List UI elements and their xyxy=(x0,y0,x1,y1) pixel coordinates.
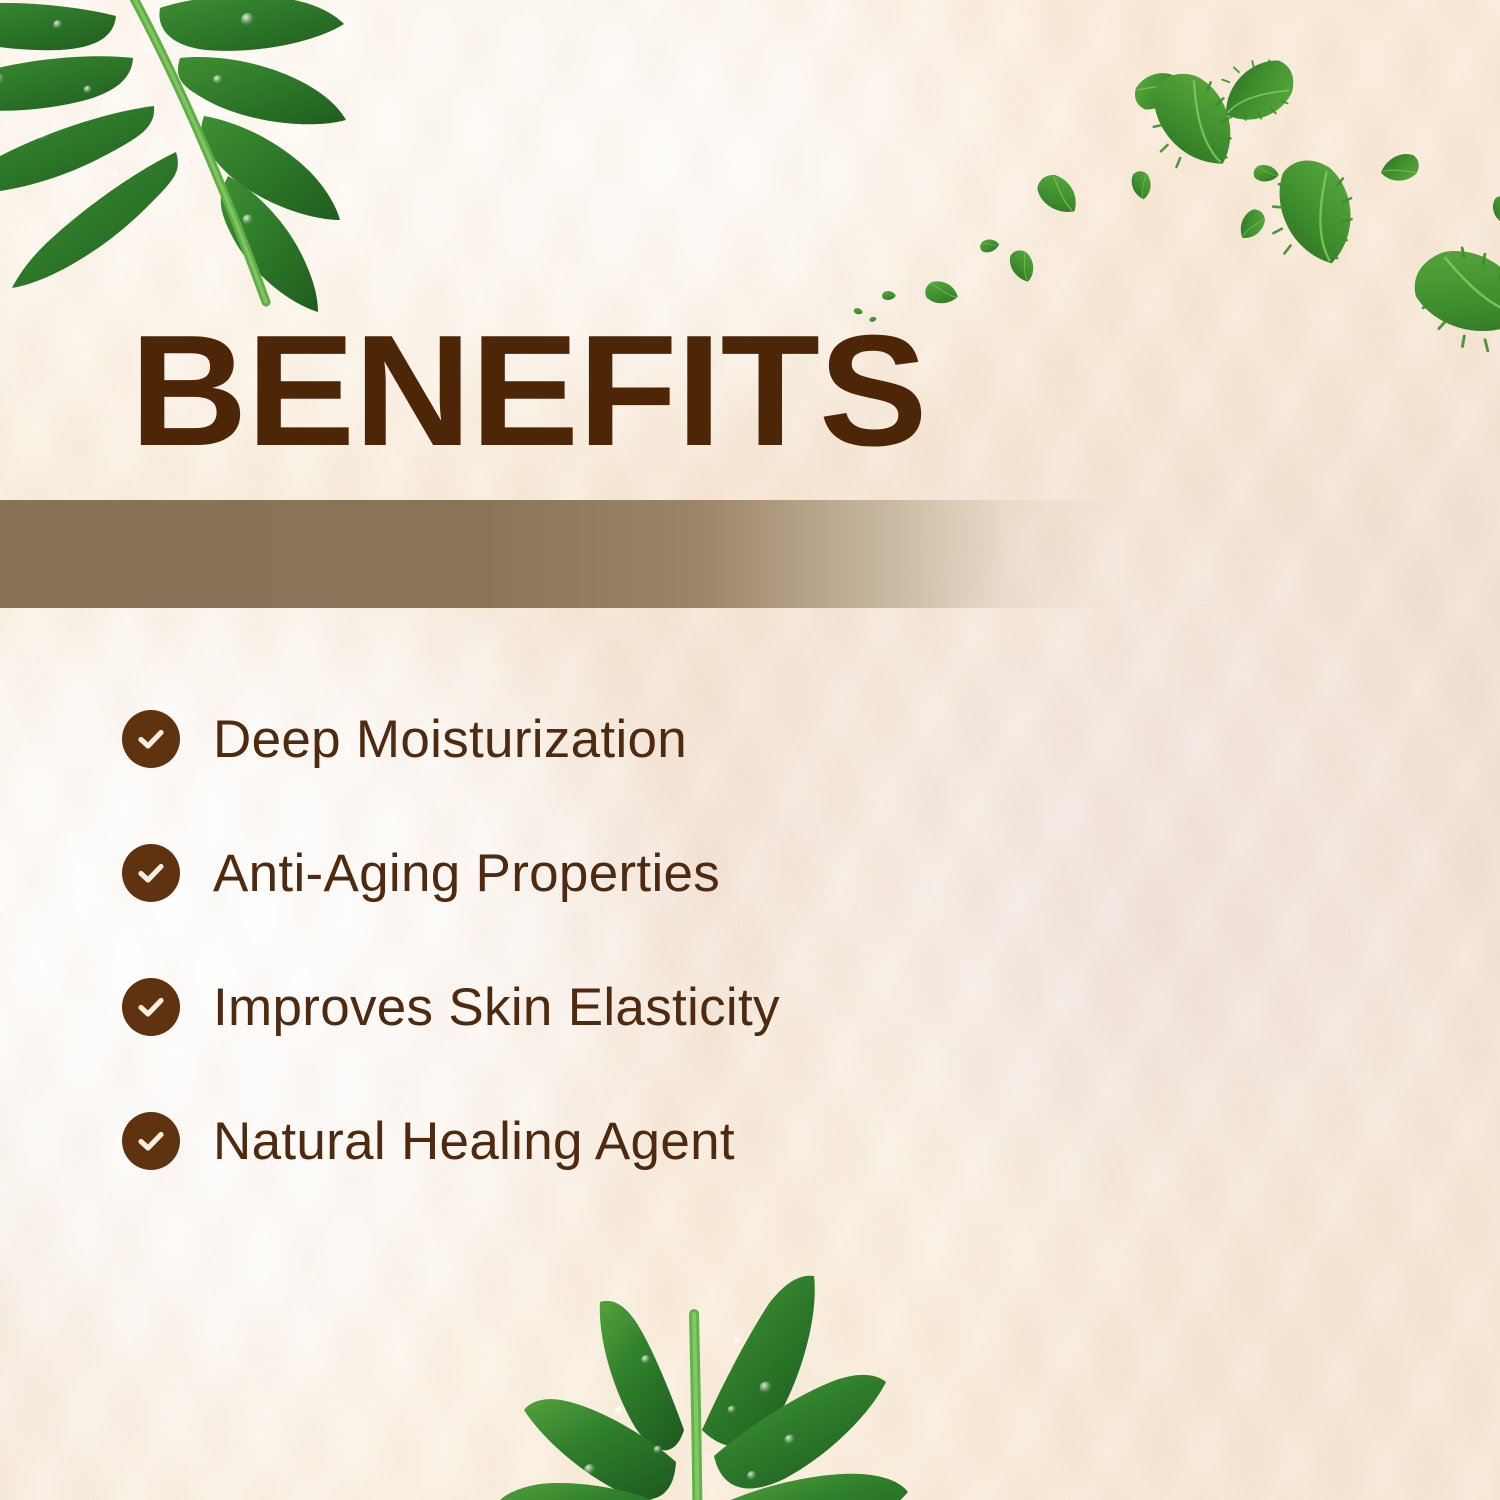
benefit-label: Natural Healing Agent xyxy=(213,1115,735,1168)
check-circle-icon xyxy=(122,978,180,1036)
list-item: Anti-Aging Properties xyxy=(122,806,1182,940)
check-circle-icon xyxy=(122,710,180,768)
check-circle-icon xyxy=(122,844,180,902)
monstera-leaf-icon xyxy=(0,0,348,330)
scattered-leaves-icon xyxy=(840,70,1500,330)
divider-bar xyxy=(0,500,1120,608)
check-circle-icon xyxy=(122,1112,180,1170)
list-item: Improves Skin Elasticity xyxy=(122,940,1182,1074)
benefits-list: Deep Moisturization Anti-Aging Propertie… xyxy=(122,672,1182,1208)
benefit-label: Improves Skin Elasticity xyxy=(213,981,780,1034)
page-title: BENEFITS xyxy=(130,312,926,470)
list-item: Natural Healing Agent xyxy=(122,1074,1182,1208)
benefit-label: Deep Moisturization xyxy=(213,713,687,766)
benefits-poster: BENEFITS Deep Moisturization Anti-Aging … xyxy=(0,0,1500,1500)
benefit-label: Anti-Aging Properties xyxy=(213,847,720,900)
list-item: Deep Moisturization xyxy=(122,672,1182,806)
monstera-leaf-icon xyxy=(470,1280,940,1500)
